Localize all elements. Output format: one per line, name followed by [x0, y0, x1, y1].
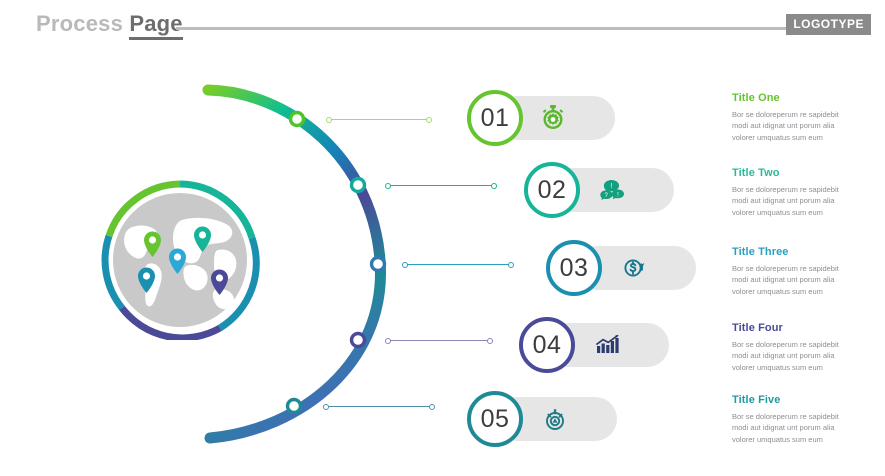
step-title-1: Title One: [732, 92, 857, 104]
step-title-5: Title Five: [732, 394, 857, 406]
step-row-1[interactable]: 01: [467, 90, 615, 146]
stopwatch-gear-icon: [539, 104, 567, 132]
step-description-4: Bor se doloreperum re sapidebit modi aut…: [732, 339, 857, 373]
step-row-2[interactable]: 02 ! ? !: [524, 162, 674, 218]
step-number-5: 05: [481, 407, 510, 432]
step-text-1: Title One Bor se doloreperum re sapidebi…: [732, 92, 857, 143]
page-header: Process Page LOGOTYPE: [0, 0, 885, 46]
process-page-infographic: Process Page LOGOTYPE: [0, 0, 885, 476]
header-divider: [176, 27, 800, 30]
arc-node-1: [291, 113, 304, 126]
connector-line-3: [403, 264, 513, 265]
step-title-3: Title Three: [732, 246, 857, 258]
connector-line-2: [386, 185, 496, 186]
step-ring-1[interactable]: 01: [467, 90, 523, 146]
step-number-4: 04: [533, 333, 562, 358]
bar-chart-icon: [593, 331, 621, 359]
arc-node-3: [372, 258, 385, 271]
step-row-4[interactable]: 04: [519, 317, 669, 373]
arc-path: [208, 90, 381, 438]
step-description-5: Bor se doloreperum re sapidebit modi aut…: [732, 411, 857, 445]
step-row-5[interactable]: 05: [467, 391, 617, 447]
page-title-light: Process: [36, 11, 123, 36]
connector-line-1: [327, 119, 431, 120]
step-row-3[interactable]: 03: [546, 240, 696, 296]
dollar-refresh-icon: [620, 254, 648, 282]
step-description-3: Bor se doloreperum re sapidebit modi aut…: [732, 263, 857, 297]
step-ring-3[interactable]: 03: [546, 240, 602, 296]
step-ring-4[interactable]: 04: [519, 317, 575, 373]
logotype-badge: LOGOTYPE: [786, 14, 871, 35]
step-ring-5[interactable]: 05: [467, 391, 523, 447]
process-arc: [180, 70, 440, 460]
step-description-2: Bor se doloreperum re sapidebit modi aut…: [732, 184, 857, 218]
arc-node-4: [352, 334, 365, 347]
svg-text:!: !: [611, 183, 613, 190]
arc-node-5: [288, 400, 301, 413]
step-number-2: 02: [538, 178, 567, 203]
connector-line-5: [324, 406, 434, 407]
step-title-4: Title Four: [732, 322, 857, 334]
arc-node-2: [352, 179, 365, 192]
page-title-bold: Page: [129, 11, 182, 40]
step-description-1: Bor se doloreperum re sapidebit modi aut…: [732, 109, 857, 143]
step-title-2: Title Two: [732, 167, 857, 179]
step-text-3: Title Three Bor se doloreperum re sapide…: [732, 246, 857, 297]
step-ring-2[interactable]: 02: [524, 162, 580, 218]
step-number-1: 01: [481, 106, 510, 131]
page-title: Process Page: [36, 11, 183, 37]
step-number-3: 03: [560, 256, 589, 281]
step-text-5: Title Five Bor se doloreperum re sapideb…: [732, 394, 857, 445]
step-text-4: Title Four Bor se doloreperum re sapideb…: [732, 322, 857, 373]
step-text-2: Title Two Bor se doloreperum re sapidebi…: [732, 167, 857, 218]
compass-timer-icon: [541, 405, 569, 433]
speech-bubbles-icon: ! ? !: [598, 176, 626, 204]
connector-line-4: [386, 340, 492, 341]
